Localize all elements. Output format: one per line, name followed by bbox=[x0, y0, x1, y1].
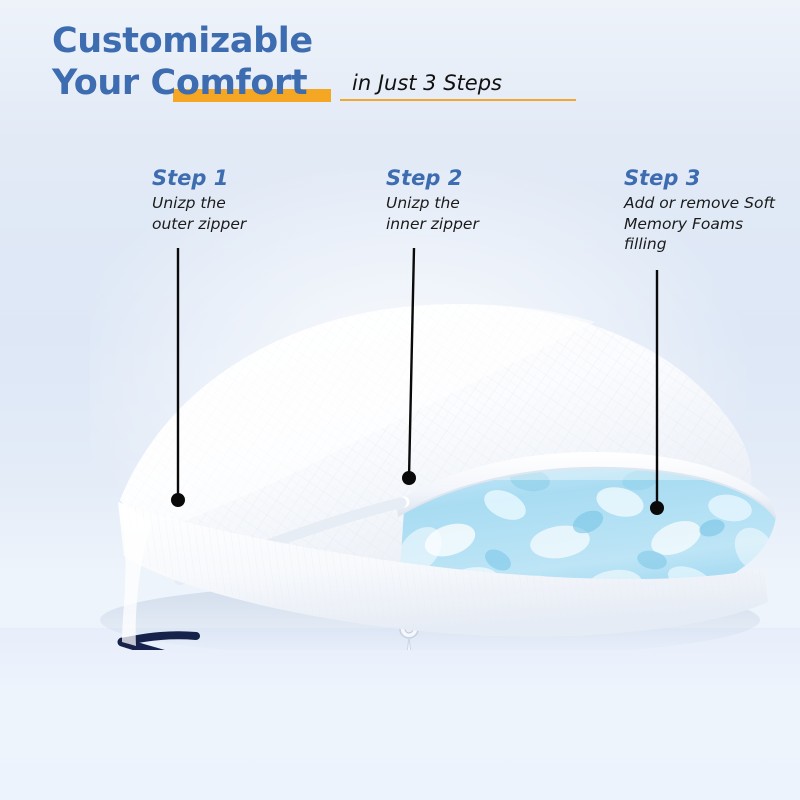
step-1-heading: Step 1 bbox=[152, 166, 246, 190]
header: Customizable Your Comfort in Just 3 Step… bbox=[0, 0, 800, 130]
callout-step-2: Step 2 Unizp the inner zipper bbox=[386, 166, 479, 234]
composition-formula: 20% Polyester + bbox=[0, 640, 800, 800]
step-3-heading: Step 3 bbox=[624, 166, 775, 190]
step-2-heading: Step 2 bbox=[386, 166, 479, 190]
page-subtitle: in Just 3 Steps bbox=[352, 71, 502, 95]
page-title-line2: Your Comfort bbox=[52, 63, 307, 103]
callout-step-3: Step 3 Add or remove Soft Memory Foams f… bbox=[624, 166, 775, 255]
page-title-line1: Customizable bbox=[52, 21, 313, 61]
step-2-body: Unizp the inner zipper bbox=[386, 193, 479, 234]
callout-step-1: Step 1 Unizp the outer zipper bbox=[152, 166, 246, 234]
step-1-body: Unizp the outer zipper bbox=[152, 193, 246, 234]
step-3-body: Add or remove Soft Memory Foams filling bbox=[624, 193, 775, 255]
subtitle-underline bbox=[340, 99, 576, 101]
infographic-canvas: Customizable Your Comfort in Just 3 Step… bbox=[0, 0, 800, 800]
